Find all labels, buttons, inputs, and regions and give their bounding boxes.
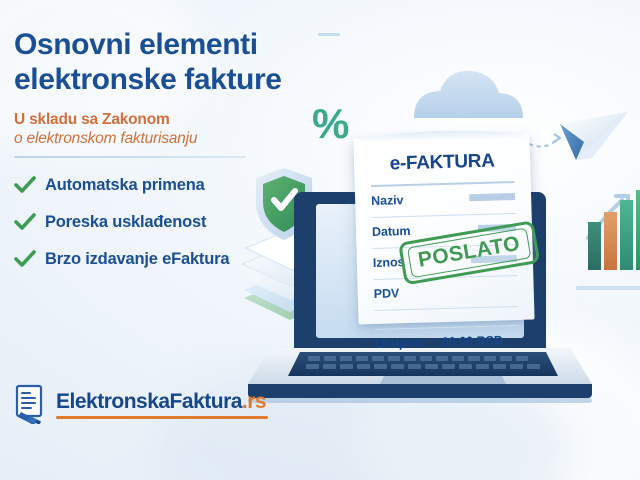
logo-text-wrap: ElektronskaFaktura.rs	[56, 390, 266, 419]
invoice-title: e-FAKTURA	[368, 150, 517, 176]
divider	[374, 306, 518, 311]
bar-chart-growth-icon	[576, 190, 640, 290]
headline-line-2: elektronske fakture	[14, 63, 314, 98]
divider	[371, 181, 515, 187]
logo-tld: .rs	[242, 390, 266, 413]
list-item: Brzo izdavanje eFaktura	[14, 250, 314, 269]
check-icon	[14, 250, 36, 268]
invoice-row-label: Naziv	[371, 193, 404, 208]
text-block: Osnovni elementi elektronske fakture U s…	[14, 28, 314, 287]
cloud-icon	[414, 71, 523, 118]
check-icon	[14, 213, 36, 231]
paper-plane-icon	[560, 112, 628, 160]
invoice-total-label: Ukupno:	[375, 336, 426, 351]
benefit-label: Poreska usklađenost	[45, 213, 206, 232]
invoice-row: PDV	[372, 283, 520, 301]
list-item: Automatska primena	[14, 176, 314, 195]
invoice-document-pen-icon	[12, 384, 50, 424]
headline-line-1: Osnovni elementi	[14, 28, 258, 61]
benefit-label: Automatska primena	[45, 176, 205, 195]
site-logo[interactable]: ElektronskaFaktura.rs	[12, 384, 266, 424]
invoice-total-value: 00.00 RSD	[442, 334, 504, 350]
invoice-value-placeholder	[469, 193, 515, 201]
stamp-label: POSLATO	[416, 232, 521, 272]
invoice-row-label: Datum	[372, 224, 411, 239]
subtitle-rule	[14, 156, 246, 158]
check-icon	[14, 176, 36, 194]
logo-name: ElektronskaFaktura	[56, 390, 242, 413]
list-item: Poreska usklađenost	[14, 213, 314, 232]
page-title: Osnovni elementi elektronske fakture	[14, 28, 314, 98]
subtitle: U skladu sa Zakonom o elektronskom faktu…	[14, 111, 314, 148]
benefit-label: Brzo izdavanje eFaktura	[45, 250, 229, 269]
invoice-row: Naziv	[369, 189, 517, 207]
subtitle-line-1: U skladu sa Zakonom	[14, 111, 170, 128]
invoice-card: e-FAKTURA Naziv Datum Iznos PDV	[353, 134, 534, 325]
invoice-row-label: PDV	[374, 286, 400, 301]
percent-icon: %	[312, 103, 349, 145]
logo-underline	[56, 416, 268, 419]
divider	[372, 212, 516, 217]
banner-canvas: % e-FAKTURA Naziv Datum Iznos PDV	[0, 0, 640, 480]
benefits-list: Automatska primena Poreska usklađenost B…	[14, 176, 314, 269]
subtitle-line-2: o elektronskom fakturisanju	[14, 130, 314, 148]
